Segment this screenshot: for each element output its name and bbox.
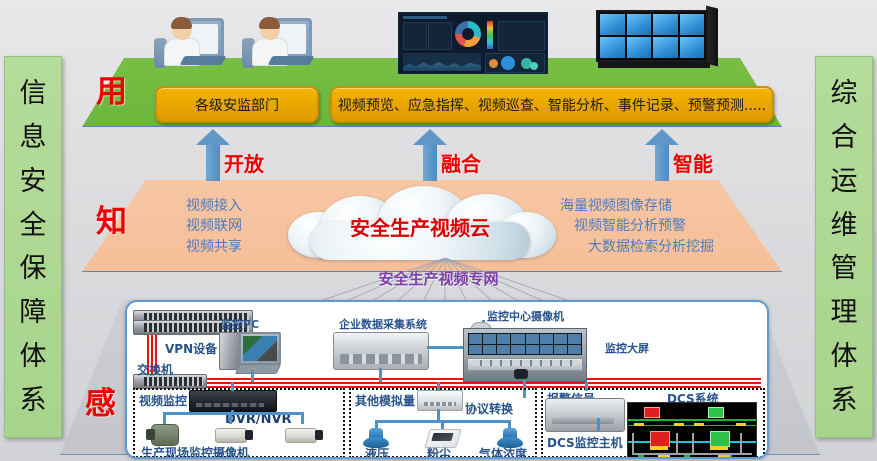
dashboard-panel xyxy=(403,22,427,50)
cloud-capability: 视频智能分析预警 xyxy=(574,216,714,236)
arrow-shaft xyxy=(655,143,669,181)
hydraulic-label: 液压 xyxy=(365,445,389,459)
left-banner-char: 体 xyxy=(20,343,47,370)
cloud-right-capabilities: 海量视频图像存储 视频智能分析预警 大数据检索分析挖掘 xyxy=(560,196,714,257)
right-banner-char: 理 xyxy=(831,299,858,326)
pc-keyboard-icon xyxy=(235,364,281,374)
right-banner-char: 运 xyxy=(831,168,858,195)
camera-drop-wire xyxy=(229,412,232,424)
arrow-shaft xyxy=(423,143,437,181)
video-surveillance-title: 视频监控 xyxy=(139,392,187,409)
data-acquisition-label: 企业数据采集系统 xyxy=(339,316,427,332)
video-wall-base xyxy=(598,62,710,68)
arrow-label-converge: 融合 xyxy=(441,148,481,177)
architecture-diagram: 信 息 安 全 保 障 体 系 综 合 运 维 管 理 体 系 用 知 感 xyxy=(0,0,877,461)
bullet-camera-icon xyxy=(285,428,317,443)
right-banner-char: 综 xyxy=(831,80,858,107)
right-banner-char: 系 xyxy=(831,387,858,414)
arrow-label-intelligent: 智能 xyxy=(673,148,713,177)
application-layer-divider xyxy=(82,126,782,127)
video-wall-cell xyxy=(600,14,625,35)
gas-concentration-label: 气体浓度 xyxy=(479,445,527,459)
video-wall-cell xyxy=(680,14,705,35)
cloud-capability: 视频联网 xyxy=(168,216,242,236)
donut-chart-icon xyxy=(455,21,481,47)
video-wall-cell xyxy=(627,14,652,35)
server-uplink-wire xyxy=(379,368,382,382)
video-wall-illustration xyxy=(596,10,718,72)
cloud-capability: 海量视频图像存储 xyxy=(560,196,714,216)
right-banner-char: 体 xyxy=(831,343,858,370)
protocol-converter-icon xyxy=(417,390,463,411)
control-room-chair xyxy=(514,369,528,379)
video-wall-cell xyxy=(600,37,625,58)
person-hair-icon xyxy=(259,17,280,29)
analytics-dashboard-illustration xyxy=(398,12,548,74)
keyboard-icon xyxy=(268,56,315,65)
person-hair-icon xyxy=(171,17,192,29)
dcs-uplink-wire xyxy=(585,382,588,391)
cloud-capability: 视频共享 xyxy=(150,237,242,257)
dcs-downlink-wire xyxy=(597,418,600,432)
backbone-bus-line xyxy=(135,378,761,380)
left-banner-char: 全 xyxy=(20,212,47,239)
bubble-icon xyxy=(530,62,538,70)
dashboard-panel xyxy=(498,21,545,51)
converter-downlink-wire xyxy=(437,409,440,422)
camera-drop-wire xyxy=(163,412,166,424)
protocol-converter-label: 协议转换 xyxy=(465,400,513,417)
keyboard-icon xyxy=(180,56,227,65)
cloud-capability: 视频接入 xyxy=(186,196,242,216)
right-banner-char: 合 xyxy=(831,124,858,151)
right-sidebar-banner: 综 合 运 维 管 理 体 系 xyxy=(815,56,873,438)
video-wall-cell xyxy=(680,37,705,58)
left-banner-char: 安 xyxy=(20,168,47,195)
arrow-head xyxy=(196,129,230,145)
analog-signals-title: 其他模拟量 xyxy=(355,392,415,409)
dcs-system-screen xyxy=(627,402,757,459)
cloud-title: 安全生产视频云 xyxy=(280,212,560,241)
ptz-camera-icon xyxy=(151,424,179,446)
control-room-video-wall xyxy=(468,333,582,355)
bubble-icon xyxy=(489,59,498,68)
field-camera-label: 生产现场监控摄像机 xyxy=(141,444,249,459)
bullet-camera-icon xyxy=(215,428,247,443)
dcs-host-label: DCS监控主机 xyxy=(547,434,623,451)
big-screen-label: 监控大屏 xyxy=(605,340,649,356)
perception-layer-letter: 感 xyxy=(85,378,116,423)
video-wall-cell xyxy=(627,37,652,58)
arrow-head xyxy=(645,129,679,145)
dcs-host-icon xyxy=(545,398,625,432)
colorbar-icon xyxy=(487,21,493,49)
data-acquisition-server-icon xyxy=(333,332,429,370)
left-banner-char: 系 xyxy=(20,387,47,414)
private-network-label: 安全生产视频专网 xyxy=(0,268,877,289)
dashboard-title-bar xyxy=(403,16,447,19)
operator-illustration xyxy=(152,12,224,74)
control-room-illustration xyxy=(463,328,587,382)
application-functions-box[interactable]: 视频预览、应急指挥、视频巡查、智能分析、事件记录、预警预测..... xyxy=(330,86,774,123)
arrow-head xyxy=(413,129,447,145)
dvr-uplink-wire xyxy=(231,382,234,391)
switch-label: 交换机 xyxy=(137,361,173,378)
left-banner-char: 信 xyxy=(20,80,47,107)
right-banner-char: 维 xyxy=(831,212,858,239)
dvr-nvr-icon xyxy=(189,390,277,412)
left-banner-char: 息 xyxy=(20,124,47,151)
video-cloud-shape: 安全生产视频云 xyxy=(280,186,560,262)
control-center-camera-label: 监控中心摄像机 xyxy=(487,308,564,324)
operator-illustration xyxy=(240,12,312,74)
camera-drop-wire xyxy=(301,412,304,424)
dashboard-panel xyxy=(428,22,452,50)
monitoring-pc-label: 监控PC xyxy=(221,316,259,332)
arrow-label-open: 开放 xyxy=(224,148,264,177)
pc-tower-icon xyxy=(219,332,240,370)
left-sidebar-banner: 信 息 安 全 保 障 体 系 xyxy=(4,56,62,438)
application-layer-letter: 用 xyxy=(96,66,127,111)
cloud-capability: 大数据检索分析挖掘 xyxy=(588,237,714,257)
cloud-left-capabilities: 视频接入 视频联网 视频共享 xyxy=(150,196,242,257)
arrow-shaft xyxy=(206,143,220,181)
dust-label: 粉尘 xyxy=(427,445,451,459)
video-wall-frame xyxy=(596,10,708,62)
left-banner-char: 障 xyxy=(20,299,47,326)
pc-uplink-wire xyxy=(251,370,254,382)
area-chart-icon xyxy=(403,53,481,71)
pc-screen-icon xyxy=(239,332,281,365)
government-departments-box[interactable]: 各级安监部门 xyxy=(155,86,319,123)
bubble-icon xyxy=(501,56,515,70)
infrastructure-panel: VPN设备 交换机 监控PC 企业数据采集系统 监控中心摄像机 监控大屏 xyxy=(125,300,769,459)
vpn-device-label: VPN设备 xyxy=(165,340,217,357)
video-wall-cell xyxy=(653,37,678,58)
platform-layer-letter: 知 xyxy=(96,196,127,241)
video-wall-cell xyxy=(653,14,678,35)
converter-uplink-wire xyxy=(437,382,440,391)
backbone-bus-line xyxy=(135,382,761,384)
